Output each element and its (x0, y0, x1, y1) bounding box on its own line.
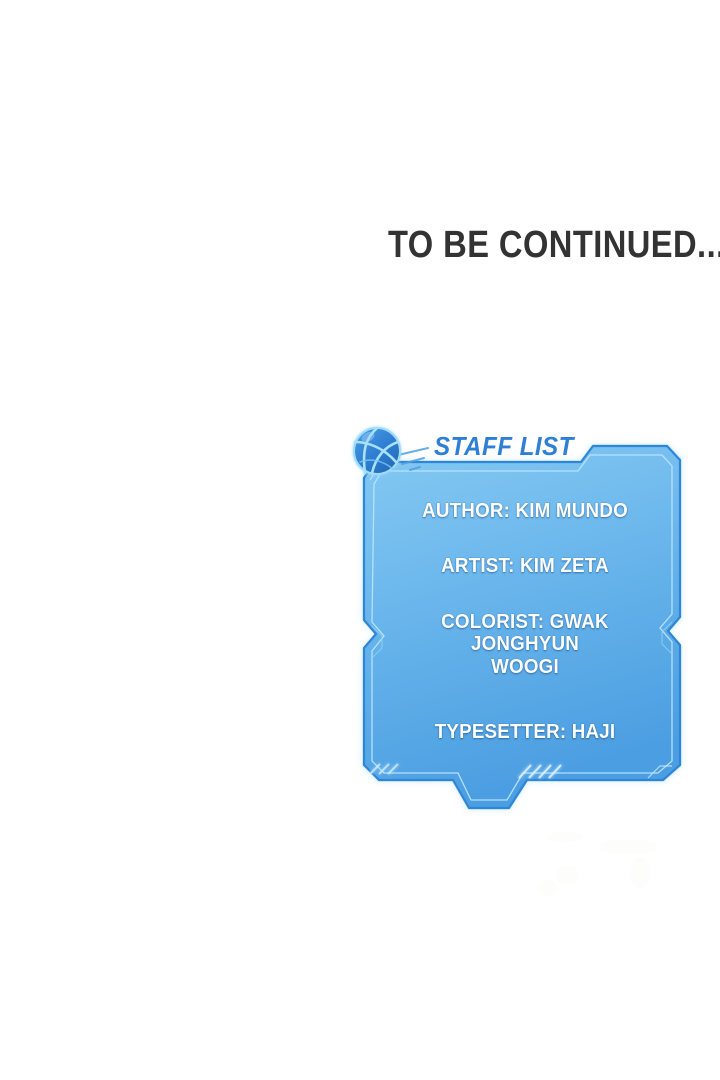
artifact-smudge-b (600, 840, 656, 854)
staff-list-panel: STAFF LIST AUTHOR: KIM MUNDO ARTIST: KIM… (348, 420, 696, 830)
credit-colorist: COLORIST: GWAK JONGHYUN (391, 611, 660, 656)
volleyball-icon (354, 428, 400, 474)
credit-artist: ARTIST: KIM ZETA (391, 555, 660, 577)
credit-colorist-second: WOOGI (391, 656, 660, 678)
artifact-smudge-c (556, 866, 578, 884)
artifact-smudge-d (630, 858, 650, 888)
comic-end-page: TO BE CONTINUED... (0, 0, 720, 1080)
artifact-smudge-e (540, 880, 556, 896)
credit-author: AUTHOR: KIM MUNDO (391, 500, 660, 522)
staff-list-title: STAFF LIST (434, 431, 574, 462)
artifact-smudge-a (548, 832, 582, 842)
credit-typesetter: TYPESETTER: HAJI (391, 721, 660, 743)
to-be-continued-text: TO BE CONTINUED... (388, 226, 720, 264)
staff-credits-list: AUTHOR: KIM MUNDO ARTIST: KIM ZETA COLOR… (382, 500, 668, 743)
